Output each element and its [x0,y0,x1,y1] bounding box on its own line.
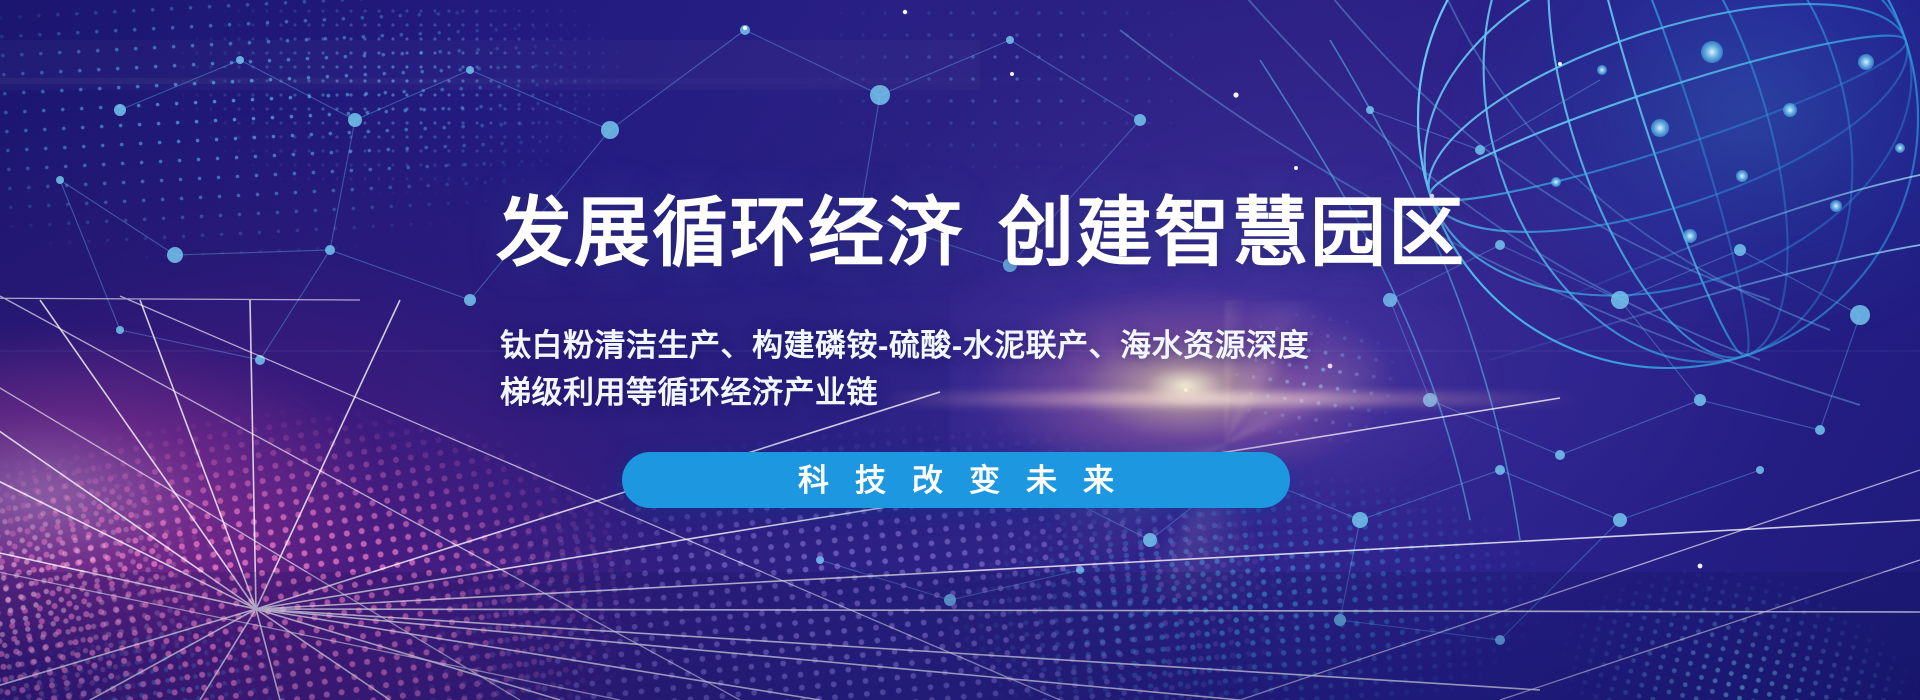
subtitle-line-2: 梯级利用等循环经济产业链 [500,369,1460,416]
banner-hero: 发展循环经济创建智慧园区 钛白粉清洁生产、构建磷铵-硫酸-水泥联产、海水资源深度… [0,0,1920,700]
subtitle-line-1: 钛白粉清洁生产、构建磷铵-硫酸-水泥联产、海水资源深度 [500,322,1460,369]
hero-content: 发展循环经济创建智慧园区 钛白粉清洁生产、构建磷铵-硫酸-水泥联产、海水资源深度… [0,0,1920,700]
title-part-two: 创建智慧园区 [998,191,1466,276]
page-title: 发展循环经济创建智慧园区 [496,196,1466,272]
title-part-one: 发展循环经济 [496,191,964,276]
cta-button[interactable]: 科技改变未来 [622,452,1290,508]
cta-button-label: 科技改变未来 [772,465,1140,496]
subtitle: 钛白粉清洁生产、构建磷铵-硫酸-水泥联产、海水资源深度 梯级利用等循环经济产业链 [500,322,1460,416]
